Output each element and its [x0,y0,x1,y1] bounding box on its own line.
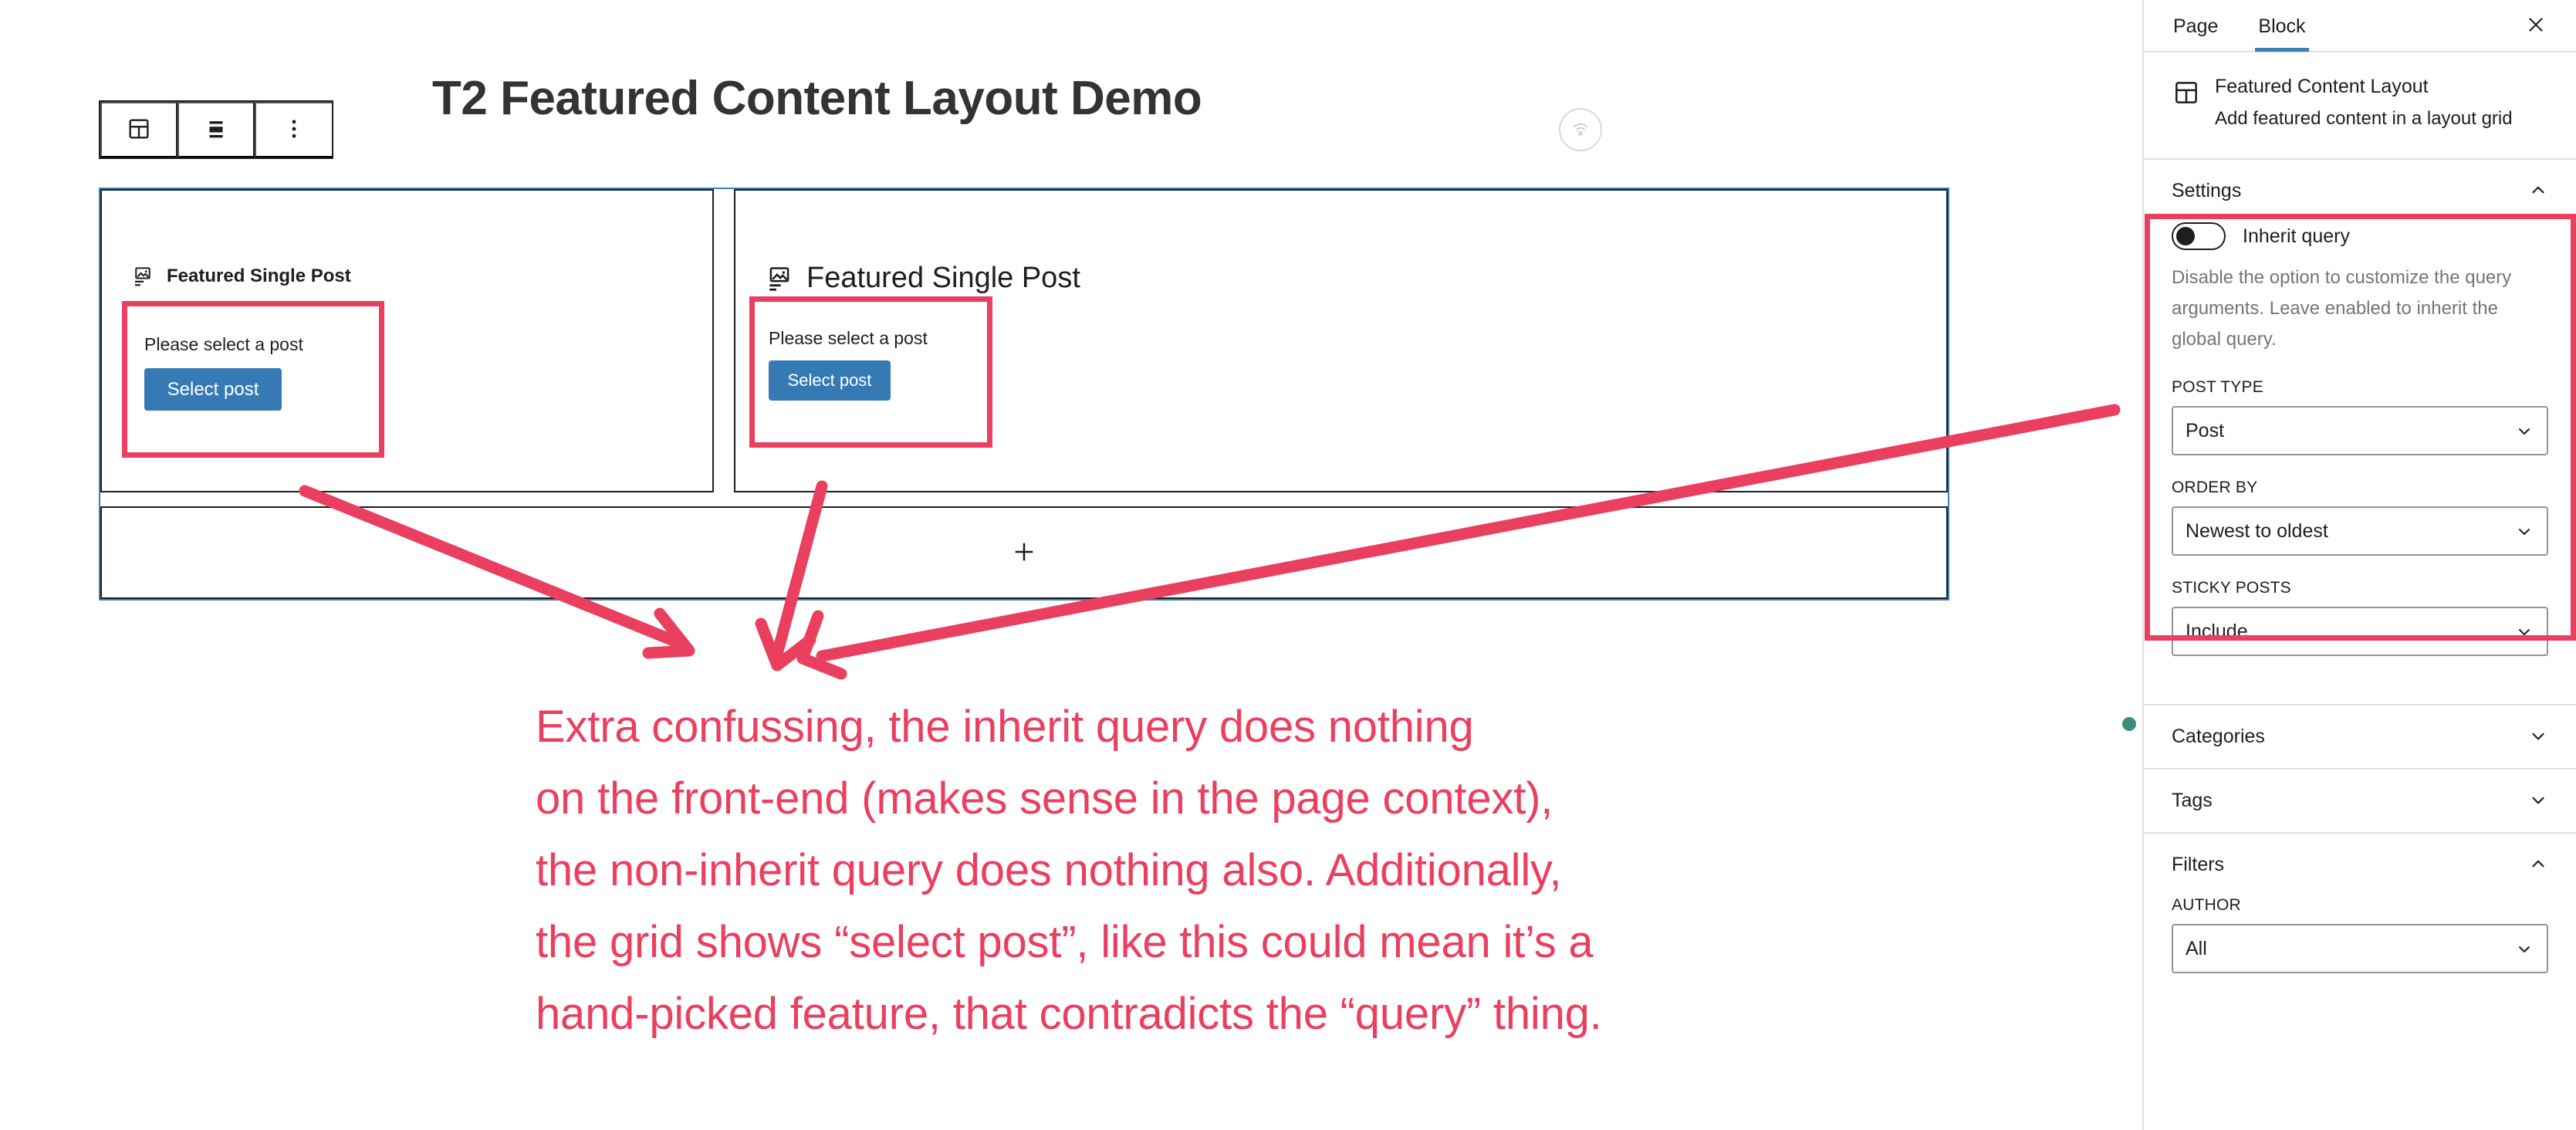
annotation-line-3: the non-inherit query does nothing also.… [536,834,2002,906]
select-post-highlight-left: Please select a post Select post [122,301,384,458]
order-by-label: ORDER BY [2172,479,2548,497]
plus-icon [1012,540,1036,567]
inherit-query-label: Inherit query [2243,225,2350,248]
align-block-button[interactable] [177,102,255,157]
add-block-button[interactable] [1006,535,1042,570]
more-options-button[interactable] [255,102,332,157]
post-type-value: Post [2186,420,2224,442]
sidebar-tab-bar: Page Block [2144,0,2576,52]
grid-cell-left[interactable]: Featured Single Post Please select a pos… [100,189,714,492]
panel-categories-title: Categories [2172,726,2265,748]
select-post-button-right[interactable]: Select post [769,360,891,401]
select-post-prompt-right: Please select a post [769,328,928,349]
panel-filters-header[interactable]: Filters [2144,834,2576,896]
annotation-line-2: on the front-end (makes sense in the pag… [536,763,2002,834]
panel-settings-header[interactable]: Settings [2144,160,2576,222]
annotation-line-1: Extra confussing, the inherit query does… [536,691,2002,763]
sticky-posts-select[interactable]: Include [2172,607,2548,656]
grid-cell-right[interactable]: Featured Single Post Please select a pos… [734,189,1948,492]
sticky-posts-value: Include [2186,621,2248,643]
chevron-down-icon [2514,939,2534,959]
select-post-placeholder-right: Please select a post Select post [755,302,987,442]
cell-left-header: Featured Single Post [131,265,351,288]
cell-right-title: Featured Single Post [806,262,1080,295]
inherit-query-toggle[interactable] [2172,222,2226,250]
panel-filters: Filters AUTHOR All [2144,834,2576,1021]
close-icon [2525,14,2547,38]
grid-appender-row[interactable] [100,506,1948,599]
sticky-posts-label: STICKY POSTS [2172,579,2548,597]
select-post-button-left[interactable]: Select post [144,368,282,411]
tab-block[interactable]: Block [2255,2,2308,50]
panel-categories: Categories [2144,705,2576,770]
close-sidebar-button[interactable] [2519,8,2553,42]
panel-settings-body: Inherit query Disable the option to cust… [2144,222,2576,704]
chevron-down-icon [2514,421,2534,441]
wifi-off-icon [1569,117,1592,144]
image-placeholder-icon [131,265,154,288]
panel-categories-header[interactable]: Categories [2144,705,2576,768]
chevron-down-icon [2528,790,2548,812]
post-type-select[interactable]: Post [2172,406,2548,455]
more-vertical-icon [281,116,307,144]
annotation-line-5: hand-picked feature, that contradicts th… [536,978,2002,1050]
author-label: AUTHOR [2172,896,2548,915]
block-card-description: Add featured content in a layout grid [2215,106,2513,132]
block-toolbar [99,100,333,159]
chevron-down-icon [2514,521,2534,541]
block-settings-sidebar: Page Block Featured Con [2142,0,2576,1130]
panel-tags: Tags [2144,770,2576,834]
chevron-down-icon [2514,621,2534,641]
block-info-card: Featured Content Layout Add featured con… [2144,52,2576,160]
block-type-layout-grid-button[interactable] [100,102,177,157]
featured-content-layout-block[interactable]: Featured Single Post Please select a pos… [99,188,1949,601]
post-type-label: POST TYPE [2172,378,2548,397]
cell-right-header: Featured Single Post [765,262,1080,295]
select-post-prompt-left: Please select a post [144,334,303,355]
offline-status-badge [1559,108,1602,151]
align-center-icon [203,116,229,144]
order-by-select[interactable]: Newest to oldest [2172,506,2548,556]
author-select[interactable]: All [2172,924,2548,973]
author-value: All [2186,938,2207,960]
panel-filters-body: AUTHOR All [2144,896,2576,1021]
chevron-up-icon [2528,180,2548,202]
marker-dot [2122,717,2136,731]
panel-tags-title: Tags [2172,790,2213,812]
layout-grid-icon [2172,76,2202,111]
panel-settings-title: Settings [2172,180,2241,202]
annotation-text: Extra confussing, the inherit query does… [536,691,2002,1050]
image-placeholder-icon [765,264,794,293]
panel-filters-title: Filters [2172,854,2224,876]
panel-tags-header[interactable]: Tags [2144,770,2576,832]
cell-left-title: Featured Single Post [167,266,351,287]
panel-settings: Settings Inherit query Disable the optio… [2144,160,2576,705]
annotation-line-4: the grid shows “select post”, like this … [536,906,2002,978]
chevron-up-icon [2528,854,2548,876]
block-editor-canvas: T2 Featured Content Layout Demo [0,0,2142,1130]
select-post-placeholder-left: Please select a post Select post [127,306,379,452]
grid-row-top: Featured Single Post Please select a pos… [100,189,1948,492]
tab-page[interactable]: Page [2170,2,2221,50]
block-card-title: Featured Content Layout [2215,76,2513,98]
layout-grid-icon [126,116,152,144]
toggle-knob [2176,227,2195,245]
inherit-query-row: Inherit query [2172,222,2548,250]
order-by-value: Newest to oldest [2186,520,2328,543]
screen-root: T2 Featured Content Layout Demo [0,0,2576,1130]
chevron-down-icon [2528,726,2548,748]
page-title[interactable]: T2 Featured Content Layout Demo [432,71,1202,126]
inherit-query-help: Disable the option to customize the quer… [2172,262,2548,355]
select-post-highlight-right: Please select a post Select post [749,296,992,448]
